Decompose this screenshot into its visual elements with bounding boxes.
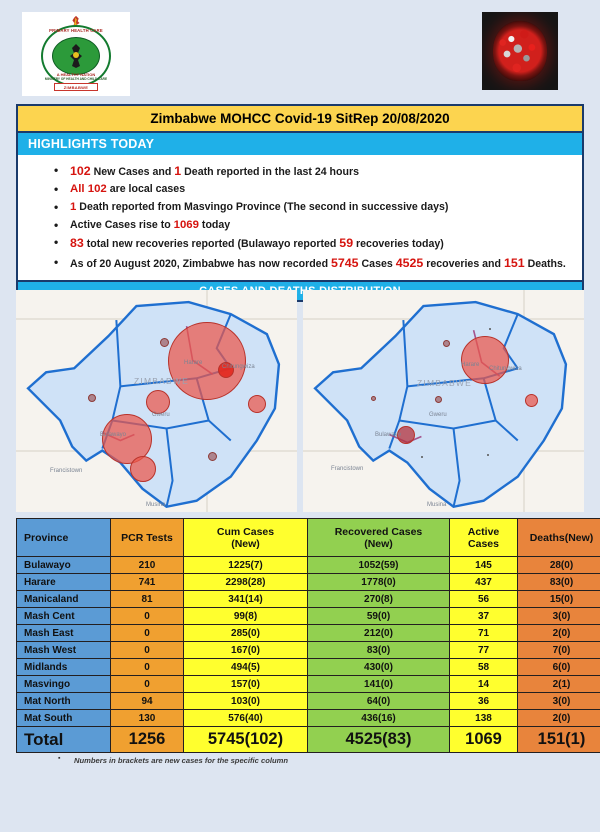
cell-province: Bulawayo [17, 557, 111, 574]
logo-banner: ZIMBABWE [54, 83, 98, 91]
case-bubble-midlands [146, 390, 170, 414]
cell-deaths: 15(0) [518, 591, 600, 608]
zimbabwe-outline [303, 290, 584, 512]
cell-deaths: 28(0) [518, 557, 600, 574]
coronavirus-image [482, 12, 558, 90]
map-label-gweru: Gweru [152, 412, 170, 418]
cell-pcr: 81 [111, 591, 184, 608]
cell-active: 71 [450, 625, 518, 642]
table-row: Masvingo0157(0)141(0)142(1) [17, 676, 600, 693]
column-header-pcr-line1: PCR Tests [113, 532, 181, 544]
logo-center-emblem-icon [66, 43, 86, 69]
cell-cum: 167(0) [184, 642, 308, 659]
cell-cum: 494(5) [184, 659, 308, 676]
case-dot-mashcent [160, 338, 169, 347]
cell-active: 77 [450, 642, 518, 659]
table-row: Mash East0285(0)212(0)712(0) [17, 625, 600, 642]
cell-pcr: 0 [111, 642, 184, 659]
map-label-chitungwiza: Chitungwiza [222, 364, 255, 370]
cell-active: 37 [450, 608, 518, 625]
column-header-deaths-line1: Deaths(New) [520, 532, 600, 544]
cell-recovered: 59(0) [308, 608, 450, 625]
case-bubble-manicaland [248, 395, 266, 413]
map-label-bulawayo: Bulawayo [100, 432, 126, 438]
provinces-table-container: Province PCR Tests Cum Cases (New) Recov… [16, 518, 584, 765]
column-header-cum-line2: (New) [186, 538, 305, 550]
case-bubble-matsouth [130, 456, 156, 482]
cell-province: Manicaland [17, 591, 111, 608]
death-city-dot-b [421, 456, 423, 458]
cell-pcr: 0 [111, 625, 184, 642]
header: PRIMARY HEALTH CARE A HEALTHY NATION MIN… [0, 0, 600, 100]
cell-province: Mat South [17, 710, 111, 727]
map-country-label: ZIMBABWE [417, 378, 472, 388]
death-dot-mashwest [371, 396, 376, 401]
cell-pcr: 210 [111, 557, 184, 574]
cell-deaths: 2(1) [518, 676, 600, 693]
highlight-item: As of 20 August 2020, Zimbabwe has now r… [18, 255, 582, 272]
table-body: Bulawayo2101225(7)1052(59)14528(0)Harare… [17, 557, 600, 753]
total-cell-province: Total [17, 727, 111, 753]
cell-pcr: 0 [111, 608, 184, 625]
highlight-item: 102 New Cases and 1 Death reported in th… [18, 163, 582, 180]
column-header-province: Province [17, 519, 111, 557]
maps-row: ZIMBABWE Harare Chitungwiza Gweru Bulawa… [16, 290, 584, 512]
provinces-table: Province PCR Tests Cum Cases (New) Recov… [16, 518, 600, 753]
column-header-deaths: Deaths(New) [518, 519, 600, 557]
highlight-item: 1 Death reported from Masvingo Province … [18, 200, 582, 215]
logo-text-top: PRIMARY HEALTH CARE [37, 28, 115, 33]
map-label-musina: Musina [146, 502, 165, 508]
map-label-bulawayo: Bulawayo [375, 432, 401, 438]
death-dot-mashcent [443, 340, 450, 347]
cell-pcr: 130 [111, 710, 184, 727]
column-header-active-line2: Cases [452, 538, 515, 550]
cell-province: Midlands [17, 659, 111, 676]
total-cell-cum: 5745(102) [184, 727, 308, 753]
death-city-dot-a [489, 328, 491, 330]
cell-deaths: 3(0) [518, 693, 600, 710]
highlight-item: All 102 are local cases [18, 182, 582, 197]
death-bubble-harare [461, 336, 509, 384]
cell-province: Mash East [17, 625, 111, 642]
cell-recovered: 212(0) [308, 625, 450, 642]
column-header-cum-cases: Cum Cases (New) [184, 519, 308, 557]
death-city-dot-c [487, 454, 489, 456]
cell-pcr: 94 [111, 693, 184, 710]
highlight-item: Active Cases rise to 1069 today [18, 218, 582, 233]
table-header-row: Province PCR Tests Cum Cases (New) Recov… [17, 519, 600, 557]
total-cell-active: 1069 [450, 727, 518, 753]
cell-cum: 157(0) [184, 676, 308, 693]
table-row: Harare7412298(28)1778(0)43783(0) [17, 574, 600, 591]
case-dot-mashwest [88, 394, 96, 402]
cell-cum: 341(14) [184, 591, 308, 608]
table-total-row: Total12565745(102)4525(83)1069151(1) [17, 727, 600, 753]
cell-active: 145 [450, 557, 518, 574]
cell-province: Mash West [17, 642, 111, 659]
cell-province: Masvingo [17, 676, 111, 693]
cell-active: 58 [450, 659, 518, 676]
cell-deaths: 3(0) [518, 608, 600, 625]
map-label-musina: Musina [427, 502, 446, 508]
cases-distribution-map[interactable]: ZIMBABWE Harare Chitungwiza Gweru Bulawa… [16, 290, 297, 512]
cell-recovered: 430(0) [308, 659, 450, 676]
cell-active: 36 [450, 693, 518, 710]
map-label-gweru: Gweru [429, 412, 447, 418]
column-header-recovered-line2: (New) [310, 538, 447, 550]
map-label-francistown: Francistown [331, 466, 363, 472]
cell-active: 14 [450, 676, 518, 693]
cell-pcr: 741 [111, 574, 184, 591]
total-cell-deaths: 151(1) [518, 727, 600, 753]
cell-active: 437 [450, 574, 518, 591]
table-row: Bulawayo2101225(7)1052(59)14528(0) [17, 557, 600, 574]
sitrep-infographic: PRIMARY HEALTH CARE A HEALTHY NATION MIN… [0, 0, 600, 832]
map-label-harare: Harare [461, 362, 479, 368]
column-header-pcr-tests: PCR Tests [111, 519, 184, 557]
zimbabwe-mohcc-logo: PRIMARY HEALTH CARE A HEALTHY NATION MIN… [22, 12, 130, 96]
highlight-item: 83 total new recoveries reported (Bulawa… [18, 235, 582, 252]
table-row: Manicaland81341(14)270(8)5615(0) [17, 591, 600, 608]
cell-pcr: 0 [111, 676, 184, 693]
case-dot-masvingo [208, 452, 217, 461]
death-dot-midlands [435, 396, 442, 403]
cell-pcr: 0 [111, 659, 184, 676]
map-country-label: ZIMBABWE [134, 376, 189, 386]
death-bubble-manicaland [525, 394, 538, 407]
column-header-active-cases: Active Cases [450, 519, 518, 557]
column-header-recovered-cases: Recovered Cases (New) [308, 519, 450, 557]
cell-province: Harare [17, 574, 111, 591]
cell-deaths: 6(0) [518, 659, 600, 676]
cell-cum: 1225(7) [184, 557, 308, 574]
total-cell-recovered: 4525(83) [308, 727, 450, 753]
table-row: Mash West0167(0)83(0)777(0) [17, 642, 600, 659]
column-header-recovered-line1: Recovered Cases [310, 526, 447, 538]
table-row: Mat South130576(40)436(16)1382(0) [17, 710, 600, 727]
highlights-card: Zimbabwe MOHCC Covid-19 SitRep 20/08/202… [16, 104, 584, 302]
cell-deaths: 7(0) [518, 642, 600, 659]
deaths-distribution-map[interactable]: ZIMBABWE Harare Chitungwiza Gweru Bulawa… [303, 290, 584, 512]
total-cell-pcr: 1256 [111, 727, 184, 753]
cell-deaths: 2(0) [518, 625, 600, 642]
map-label-francistown: Francistown [50, 468, 82, 474]
column-header-cum-line1: Cum Cases [186, 526, 305, 538]
cell-recovered: 436(16) [308, 710, 450, 727]
cell-cum: 576(40) [184, 710, 308, 727]
cell-recovered: 1052(59) [308, 557, 450, 574]
cell-recovered: 64(0) [308, 693, 450, 710]
cell-active: 56 [450, 591, 518, 608]
cell-cum: 103(0) [184, 693, 308, 710]
page-title: Zimbabwe MOHCC Covid-19 SitRep 20/08/202… [18, 106, 582, 133]
highlights-heading: HIGHLIGHTS TODAY [18, 133, 582, 155]
logo-banner-text: ZIMBABWE [64, 85, 88, 90]
logo-text-sub: MINISTRY OF HEALTH AND CHILD CARE [37, 77, 115, 81]
table-row: Mash Cent099(8)59(0)373(0) [17, 608, 600, 625]
cell-recovered: 270(8) [308, 591, 450, 608]
cell-deaths: 83(0) [518, 574, 600, 591]
cell-cum: 285(0) [184, 625, 308, 642]
cell-province: Mash Cent [17, 608, 111, 625]
column-header-active-line1: Active [452, 526, 515, 538]
table-row: Mat North94103(0)64(0)363(0) [17, 693, 600, 710]
cell-cum: 2298(28) [184, 574, 308, 591]
table-footnote: Numbers in brackets are new cases for th… [16, 756, 584, 765]
cell-province: Mat North [17, 693, 111, 710]
cell-active: 138 [450, 710, 518, 727]
highlights-list: 102 New Cases and 1 Death reported in th… [18, 155, 582, 280]
map-label-harare: Harare [184, 360, 202, 366]
map-label-chitungwiza: Chitungwiza [489, 366, 522, 372]
cell-recovered: 141(0) [308, 676, 450, 693]
table-row: Midlands0494(5)430(0)586(0) [17, 659, 600, 676]
column-header-province-line1: Province [24, 532, 108, 544]
cell-deaths: 2(0) [518, 710, 600, 727]
cell-recovered: 83(0) [308, 642, 450, 659]
cell-cum: 99(8) [184, 608, 308, 625]
case-bubble-harare [168, 322, 246, 400]
cell-recovered: 1778(0) [308, 574, 450, 591]
